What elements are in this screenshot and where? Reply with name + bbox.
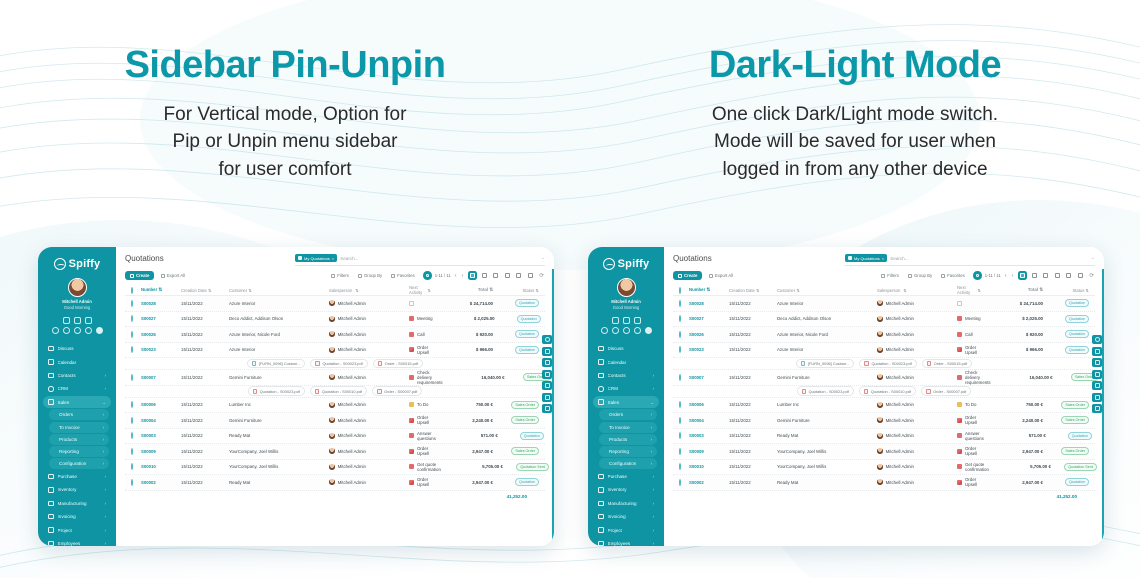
- select-all-checkbox[interactable]: [131, 288, 141, 293]
- checkbox-icon: [679, 374, 681, 381]
- row-checkbox[interactable]: [679, 402, 689, 407]
- headline-right: Dark-Light Mode One click Dark/Light mod…: [570, 0, 1140, 235]
- link-icon[interactable]: [52, 327, 59, 334]
- activity-label: Check delivery requirements: [965, 370, 991, 385]
- cell-number[interactable]: S00006: [141, 402, 181, 407]
- table-footer-total: 41,252.00: [673, 491, 1095, 499]
- chevron-right-icon: ›: [653, 514, 654, 519]
- status-badge: Quotation Sent: [1064, 463, 1097, 471]
- status-badge: Quotation: [1068, 432, 1092, 440]
- sidebar-item-employees[interactable]: Employees ›: [593, 537, 659, 546]
- row-checkbox[interactable]: [131, 347, 141, 352]
- cell-creation-date: 15/11/2022: [181, 464, 229, 469]
- cell-status: Quotation: [498, 432, 544, 440]
- cell-number[interactable]: S00002: [141, 480, 181, 485]
- kanban-view-icon[interactable]: [480, 271, 489, 280]
- column-header-number[interactable]: Number ⇅: [689, 287, 729, 293]
- status-badge: Quotation Sent: [516, 463, 549, 471]
- avatar: [329, 316, 335, 322]
- row-checkbox[interactable]: [679, 375, 689, 380]
- attachment-chip[interactable]: Quotation - S00010.pdf: [859, 386, 916, 396]
- loading-indicator-icon[interactable]: [973, 271, 982, 280]
- cell-number[interactable]: S00003: [141, 433, 181, 438]
- column-header-salesperson[interactable]: Salesperson ⇅: [329, 288, 409, 293]
- row-checkbox[interactable]: [131, 402, 141, 407]
- cell-total: 2,947.00 €: [431, 480, 493, 485]
- activity-label: Call: [965, 332, 973, 337]
- sidebar-item-label: CRM: [608, 386, 649, 391]
- table-row[interactable]: S00026 15/11/2022 Azure Interior, Nicole…: [673, 327, 1095, 343]
- home-icon[interactable]: [74, 317, 81, 324]
- activity-label: Order Upsell: [417, 345, 431, 355]
- attachment-chip[interactable]: Order - S00007.pdf: [372, 386, 422, 396]
- cell-total: $ 2,025.00: [981, 316, 1043, 321]
- create-label: Create: [136, 273, 149, 278]
- control-panel: My Quotations × Search... ⌄: [845, 254, 1095, 266]
- column-header-number[interactable]: Number ⇅: [141, 287, 181, 293]
- column-header-customer[interactable]: Customer ⇅: [229, 288, 329, 293]
- table-row[interactable]: S00002 15/11/2022 Ready Mat Mitchell Adm…: [125, 475, 545, 491]
- status-badge: Sales Order: [1061, 401, 1089, 409]
- cell-total: 16,040.00 €: [443, 375, 505, 380]
- next-page-button[interactable]: ›: [461, 273, 465, 279]
- group-by-button[interactable]: Group By: [355, 272, 384, 280]
- spiffy-logo-icon: [603, 258, 615, 270]
- sidebar-item-project[interactable]: Project ›: [593, 524, 659, 536]
- avatar[interactable]: [68, 278, 87, 297]
- filter-icon[interactable]: [74, 327, 81, 334]
- table-row[interactable]: S00007 15/11/2022 Gemini Furniture Mitch…: [673, 370, 1095, 386]
- row-checkbox[interactable]: [131, 449, 141, 454]
- attachment-label: Order - S00007.pdf: [933, 389, 966, 394]
- chevron-right-icon: ›: [651, 437, 652, 442]
- sidebar-item-employees[interactable]: Employees ›: [43, 537, 111, 546]
- table-row[interactable]: S00027 15/11/2022 Deco Addict, Addison O…: [125, 312, 545, 328]
- table-row[interactable]: S00003 15/11/2022 Ready Mat Mitchell Adm…: [673, 429, 1095, 445]
- sidebar-item-orders[interactable]: Orders ›: [599, 409, 657, 420]
- link-icon[interactable]: [601, 327, 608, 334]
- settings-gear-icon[interactable]: [1092, 335, 1102, 344]
- kanban-view-icon[interactable]: [1030, 271, 1039, 280]
- column-header-label: Creation Date: [729, 288, 755, 293]
- sidebar-item-sales[interactable]: Sales ⌄: [593, 396, 659, 408]
- cell-creation-date: 15/11/2022: [729, 480, 777, 485]
- attachment-row: Quotation - S00023.pdf Quotation - S0001…: [673, 386, 1095, 398]
- row-checkbox[interactable]: [131, 433, 141, 438]
- row-checkbox[interactable]: [679, 433, 689, 438]
- sidebar-item-sales[interactable]: Sales ⌄: [43, 396, 111, 408]
- sidebar-item-manufacturing[interactable]: Manufacturing ›: [43, 497, 111, 509]
- grid-icon[interactable]: [1092, 358, 1102, 367]
- search-facet-my-quotations[interactable]: My Quotations ×: [295, 254, 337, 262]
- status-badge: Sales Order: [511, 401, 539, 409]
- cell-status: Sales Order: [493, 416, 539, 424]
- sidebar-item-inventory[interactable]: Inventory ›: [593, 484, 659, 496]
- column-header-status[interactable]: Status ⇅: [1043, 288, 1089, 293]
- checkbox-icon: [679, 479, 681, 486]
- sidebar-item-label: Orders: [604, 412, 647, 417]
- quick-actions-row-2: [42, 327, 112, 334]
- chevron-right-icon: ›: [105, 528, 106, 533]
- cell-creation-date: 15/11/2022: [181, 375, 229, 380]
- cell-total: $ 2,025.00: [433, 316, 495, 321]
- table-row[interactable]: S00027 15/11/2022 Deco Addict, Addison O…: [673, 312, 1095, 328]
- cell-number[interactable]: S00009: [141, 449, 181, 454]
- column-header-total[interactable]: Total ⇅: [431, 287, 493, 293]
- sidebar-item-discuss[interactable]: Discuss: [593, 343, 659, 355]
- cell-next-activity: [409, 301, 431, 306]
- camera-icon[interactable]: [542, 347, 552, 356]
- calendar-view-icon[interactable]: [1041, 271, 1050, 280]
- star-icon[interactable]: [96, 327, 103, 334]
- sidebar-item-label: Employees: [608, 541, 649, 546]
- table-row[interactable]: S00006 15/11/2022 Lumber Inc Mitchell Ad…: [673, 398, 1095, 414]
- row-checkbox[interactable]: [679, 332, 689, 337]
- sidebar-menu: Discuss Calendar Contacts › CRM › Sales …: [592, 343, 660, 546]
- phone-icon[interactable]: [63, 317, 70, 324]
- cell-number[interactable]: S00003: [689, 433, 729, 438]
- star-icon[interactable]: [645, 327, 652, 334]
- graph-view-icon[interactable]: [1064, 271, 1073, 280]
- save-icon[interactable]: [542, 381, 552, 390]
- printer-icon[interactable]: [542, 370, 552, 379]
- grid-icon[interactable]: [542, 358, 552, 367]
- sidebar-item-reporting[interactable]: Reporting ›: [599, 446, 657, 457]
- close-icon[interactable]: ×: [882, 256, 884, 261]
- row-checkbox[interactable]: [679, 316, 689, 321]
- search-facet-my-quotations[interactable]: My Quotations ×: [845, 254, 887, 262]
- column-header-label: Salesperson: [877, 288, 900, 293]
- sidebar-item-discuss[interactable]: Discuss: [43, 343, 111, 355]
- status-badge: Quotation: [1065, 299, 1089, 307]
- list-view-icon[interactable]: [468, 271, 477, 280]
- attachment-chip[interactable]: Quotation - S00023.pdf: [797, 386, 854, 396]
- cell-salesperson: Mitchell Admin: [877, 464, 957, 470]
- activity-label: Order Upsell: [965, 477, 981, 487]
- cell-salesperson: Mitchell Admin: [877, 479, 957, 485]
- cell-total: 750.00 €: [981, 402, 1043, 407]
- row-checkbox[interactable]: [131, 480, 141, 485]
- table-row[interactable]: S00028 15/11/2022 Azure Interior Mitchel…: [125, 296, 545, 312]
- printer-icon[interactable]: [1092, 370, 1102, 379]
- column-header-creation-date[interactable]: Creation Date ⇅: [181, 288, 229, 293]
- cell-number[interactable]: S00023: [689, 347, 729, 352]
- sidebar-item-purchase[interactable]: Purchase ›: [43, 470, 111, 482]
- cell-number[interactable]: S00002: [689, 480, 729, 485]
- favorites-button[interactable]: Favorites: [389, 272, 418, 280]
- column-header-status[interactable]: Status ⇅: [493, 288, 539, 293]
- table-footer-total: 41,252.00: [125, 491, 545, 499]
- sidebar-item-invoicing[interactable]: Invoicing ›: [593, 511, 659, 523]
- view-glyph: [1020, 273, 1025, 278]
- row-checkbox[interactable]: [679, 449, 689, 454]
- column-header-label: Creation Date: [181, 288, 207, 293]
- chevron-right-icon: ›: [103, 412, 104, 417]
- star-icon: [941, 274, 945, 278]
- column-header-salesperson[interactable]: Salesperson ⇅: [877, 288, 957, 293]
- pdf-file-icon: [927, 361, 932, 366]
- column-header-next-activity[interactable]: Next Activity ⇅: [409, 285, 431, 295]
- sidebar-item-label: Calendar: [58, 360, 107, 365]
- sidebar-item-purchase[interactable]: Purchase ›: [593, 470, 659, 482]
- row-checkbox[interactable]: [131, 316, 141, 321]
- table-row[interactable]: S00009 15/11/2022 YourCompany, Joel Will…: [125, 444, 545, 460]
- cell-customer: Gemini Furniture: [777, 418, 877, 423]
- activity-icon: [957, 316, 962, 321]
- sidebar-item-configuration[interactable]: Configuration ›: [49, 458, 109, 469]
- cell-salesperson: Mitchell Admin: [877, 347, 957, 353]
- rail-glyph: [545, 337, 550, 342]
- table-row[interactable]: S00003 15/11/2022 Ready Mat Mitchell Adm…: [125, 429, 545, 445]
- row-checkbox[interactable]: [679, 301, 689, 306]
- table-header: Number ⇅Creation Date ⇅Customer ⇅Salespe…: [673, 285, 1095, 296]
- row-checkbox[interactable]: [131, 418, 141, 423]
- share-icon[interactable]: [542, 404, 552, 413]
- cell-number[interactable]: S00006: [689, 402, 729, 407]
- create-button[interactable]: Create: [125, 271, 154, 280]
- cell-next-activity: Get quote confirmation: [957, 462, 989, 472]
- filters-button[interactable]: Filters: [329, 272, 352, 280]
- attachment-chip[interactable]: Quotation - S00010.pdf: [310, 386, 367, 396]
- share-icon[interactable]: [1092, 404, 1102, 413]
- mail-icon[interactable]: [1092, 393, 1102, 402]
- group-icon: [358, 274, 362, 278]
- export-all-button[interactable]: Export All: [158, 272, 187, 280]
- column-header-label: Total: [1028, 287, 1038, 292]
- chevron-right-icon: ›: [651, 461, 652, 466]
- scrollbar[interactable]: [1102, 269, 1104, 546]
- row-checkbox[interactable]: [679, 464, 689, 469]
- table-row[interactable]: S00023 15/11/2022 Azure Interior Mitchel…: [673, 343, 1095, 359]
- favorites-button[interactable]: Favorites: [939, 272, 968, 280]
- select-all-checkbox[interactable]: [679, 288, 689, 293]
- sidebar-item-label: Products: [54, 437, 99, 442]
- avatar[interactable]: [617, 278, 636, 297]
- filter-icon[interactable]: [623, 327, 630, 334]
- column-header-customer[interactable]: Customer ⇅: [777, 288, 877, 293]
- table-row[interactable]: S00026 15/11/2022 Azure Interior, Nicole…: [125, 327, 545, 343]
- cell-number[interactable]: S00028: [689, 301, 729, 306]
- cell-number[interactable]: S00023: [141, 347, 181, 352]
- activity-icon: [409, 332, 414, 337]
- table-row[interactable]: S00006 15/11/2022 Lumber Inc Mitchell Ad…: [125, 398, 545, 414]
- attachment-chip[interactable]: Quotation - S00023.pdf: [859, 359, 916, 369]
- chevron-right-icon: ›: [105, 474, 106, 479]
- table-row[interactable]: S00002 15/11/2022 Ready Mat Mitchell Adm…: [673, 475, 1095, 491]
- cell-number[interactable]: S00004: [141, 418, 181, 423]
- row-checkbox[interactable]: [131, 301, 141, 306]
- calendar-view-icon[interactable]: [491, 271, 500, 280]
- home-icon[interactable]: [623, 317, 630, 324]
- sidebar-item-orders[interactable]: Orders ›: [49, 409, 109, 420]
- cell-number[interactable]: S00028: [141, 301, 181, 306]
- scrollbar[interactable]: [552, 269, 554, 546]
- group-by-button[interactable]: Group By: [905, 272, 934, 280]
- cell-customer: YourCompany, Joel Willis: [229, 464, 329, 469]
- cell-status: Quotation: [1043, 299, 1089, 307]
- sidebar-item-project[interactable]: Project ›: [43, 524, 111, 536]
- contacts-icon: [48, 373, 54, 379]
- table-row[interactable]: S00028 15/11/2022 Azure Interior Mitchel…: [673, 296, 1095, 312]
- cell-salesperson: Mitchell Admin: [877, 331, 957, 337]
- list-view-icon[interactable]: [1018, 271, 1027, 280]
- avatar: [329, 374, 335, 380]
- refresh-icon[interactable]: ⟳: [1088, 273, 1095, 279]
- row-checkbox[interactable]: [679, 347, 689, 352]
- cell-number[interactable]: S00026: [689, 332, 729, 337]
- search-input[interactable]: My Quotations × Search... ⌄: [845, 254, 1095, 266]
- search-input[interactable]: My Quotations × Search... ⌄: [295, 254, 545, 266]
- grid-icon[interactable]: [85, 317, 92, 324]
- status-badge: Sales Order: [1061, 447, 1089, 455]
- avatar: [877, 448, 883, 454]
- status-badge: Sales Order: [1061, 416, 1089, 424]
- activity-icon: [409, 480, 414, 485]
- cell-salesperson: Mitchell Admin: [329, 402, 409, 408]
- cell-next-activity: Meeting: [409, 316, 433, 321]
- sidebar-item-contacts[interactable]: Contacts ›: [593, 369, 659, 381]
- attachment-chip[interactable]: Order - S00015.pdf: [922, 359, 972, 369]
- row-checkbox[interactable]: [679, 418, 689, 423]
- table-row[interactable]: S00004 15/11/2022 Gemini Furniture Mitch…: [125, 413, 545, 429]
- sidebar-item-calendar[interactable]: Calendar: [43, 356, 111, 368]
- next-page-button[interactable]: ›: [1011, 273, 1015, 279]
- settings-gear-icon[interactable]: [542, 335, 552, 344]
- sidebar-item-products[interactable]: Products ›: [599, 434, 657, 445]
- attachment-chip[interactable]: Order - S00015.pdf: [373, 359, 423, 369]
- attachment-chip[interactable]: Quotation - S00023.pdf: [310, 359, 367, 369]
- cell-number[interactable]: S00010: [141, 464, 181, 469]
- cell-creation-date: 15/11/2022: [181, 347, 229, 352]
- close-icon[interactable]: ×: [332, 256, 334, 261]
- sidebar-item-reporting[interactable]: Reporting ›: [49, 446, 109, 457]
- sidebar-item-label: Manufacturing: [58, 501, 101, 506]
- sidebar-item-inventory[interactable]: Inventory ›: [43, 484, 111, 496]
- sidebar-item-label: Invoicing: [58, 514, 101, 519]
- cell-status: Quotation: [1043, 478, 1089, 486]
- export-all-button[interactable]: Export All: [706, 272, 735, 280]
- cell-number[interactable]: S00027: [689, 316, 729, 321]
- table-row[interactable]: S00009 15/11/2022 YourCompany, Joel Will…: [673, 444, 1095, 460]
- cell-number[interactable]: S00027: [141, 316, 181, 321]
- chevron-down-icon[interactable]: ⌄: [541, 255, 545, 261]
- loading-indicator-icon[interactable]: [423, 271, 432, 280]
- column-header-creation-date[interactable]: Creation Date ⇅: [729, 288, 777, 293]
- attachment-label: [FURN_0096] Custom...: [808, 361, 850, 366]
- phone-icon[interactable]: [612, 317, 619, 324]
- pivot-view-icon[interactable]: [503, 271, 512, 280]
- attachment-chip[interactable]: Order - S00007.pdf: [921, 386, 971, 396]
- table-row[interactable]: S00004 15/11/2022 Gemini Furniture Mitch…: [673, 413, 1095, 429]
- cell-creation-date: 15/11/2022: [181, 402, 229, 407]
- table-header: Number ⇅Creation Date ⇅Customer ⇅Salespe…: [125, 285, 545, 296]
- pdf-file-icon: [926, 389, 931, 394]
- mail-icon[interactable]: [542, 393, 552, 402]
- attachment-chip[interactable]: [FURN_0096] Custom...: [247, 359, 306, 369]
- chevron-down-icon[interactable]: ⌄: [1091, 255, 1095, 261]
- link-alt-icon[interactable]: [612, 327, 619, 334]
- sidebar-item-configuration[interactable]: Configuration ›: [599, 458, 657, 469]
- attachment-chip[interactable]: [FURN_0096] Custom...: [796, 359, 855, 369]
- sidebar-item-to-invoice[interactable]: To Invoice ›: [599, 422, 657, 433]
- row-checkbox[interactable]: [131, 464, 141, 469]
- image-file-icon: [801, 361, 806, 366]
- filters-button[interactable]: Filters: [879, 272, 902, 280]
- avatar: [877, 464, 883, 470]
- brand-logo[interactable]: Spiffy: [592, 253, 660, 274]
- pivot-view-icon[interactable]: [1053, 271, 1062, 280]
- sidebar-item-crm[interactable]: CRM ›: [43, 383, 111, 395]
- create-label: Create: [684, 273, 697, 278]
- cell-number[interactable]: S00007: [689, 375, 729, 380]
- column-header-total[interactable]: Total ⇅: [981, 287, 1043, 293]
- cell-number[interactable]: S00009: [689, 449, 729, 454]
- activity-label: Meeting: [965, 316, 981, 321]
- cell-salesperson: Mitchell Admin: [329, 464, 409, 470]
- sidebar-item-contacts[interactable]: Contacts ›: [43, 369, 111, 381]
- sidebar-item-products[interactable]: Products ›: [49, 434, 109, 445]
- activity-icon: [957, 464, 962, 469]
- brand-logo[interactable]: Spiffy: [42, 253, 112, 274]
- lock-icon[interactable]: [634, 327, 641, 334]
- save-icon[interactable]: [1092, 381, 1102, 390]
- cell-number[interactable]: S00010: [689, 464, 729, 469]
- link-alt-icon[interactable]: [63, 327, 70, 334]
- sidebar-item-invoicing[interactable]: Invoicing ›: [43, 511, 111, 523]
- create-button[interactable]: Create: [673, 271, 702, 280]
- table-row[interactable]: S00023 15/11/2022 Azure Interior Mitchel…: [125, 343, 545, 359]
- row-checkbox[interactable]: [131, 375, 141, 380]
- lock-icon[interactable]: [85, 327, 92, 334]
- column-header-next-activity[interactable]: Next Activity ⇅: [957, 285, 981, 295]
- cell-salesperson: Mitchell Admin: [877, 374, 957, 380]
- view-glyph: [470, 273, 475, 278]
- salesperson-name: Mitchell Admin: [886, 418, 914, 423]
- graph-view-icon[interactable]: [514, 271, 523, 280]
- cell-number[interactable]: S00026: [141, 332, 181, 337]
- floating-action-rail: [542, 335, 552, 413]
- cell-number[interactable]: S00007: [141, 375, 181, 380]
- avatar: [329, 331, 335, 337]
- refresh-icon[interactable]: ⟳: [538, 273, 545, 279]
- camera-icon[interactable]: [1092, 347, 1102, 356]
- prev-page-button[interactable]: ‹: [1004, 273, 1008, 279]
- cell-creation-date: 15/11/2022: [729, 418, 777, 423]
- quick-actions-row-2: [592, 327, 660, 334]
- sidebar-item-label: Discuss: [608, 346, 655, 351]
- table-row[interactable]: S00007 15/11/2022 Gemini Furniture Mitch…: [125, 370, 545, 386]
- row-checkbox[interactable]: [679, 480, 689, 485]
- table-row[interactable]: S00010 15/11/2022 YourCompany, Joel Will…: [125, 460, 545, 476]
- prev-page-button[interactable]: ‹: [454, 273, 458, 279]
- activity-icon: [409, 433, 414, 438]
- chevron-right-icon: ›: [103, 461, 104, 466]
- filter-icon: [881, 274, 885, 278]
- activity-view-icon[interactable]: [526, 271, 535, 280]
- activity-view-icon[interactable]: [1076, 271, 1085, 280]
- sidebar-item-crm[interactable]: CRM ›: [593, 383, 659, 395]
- grid-icon[interactable]: [634, 317, 641, 324]
- activity-icon: [409, 449, 414, 454]
- row-checkbox[interactable]: [131, 332, 141, 337]
- activity-label: Order Upsell: [417, 415, 431, 425]
- table-row[interactable]: S00010 15/11/2022 YourCompany, Joel Will…: [673, 460, 1095, 476]
- sidebar-item-manufacturing[interactable]: Manufacturing ›: [593, 497, 659, 509]
- cell-number[interactable]: S00004: [689, 418, 729, 423]
- sidebar-item-to-invoice[interactable]: To Invoice ›: [49, 422, 109, 433]
- attachment-chip[interactable]: Quotation - S00023.pdf: [248, 386, 305, 396]
- sidebar-item-calendar[interactable]: Calendar: [593, 356, 659, 368]
